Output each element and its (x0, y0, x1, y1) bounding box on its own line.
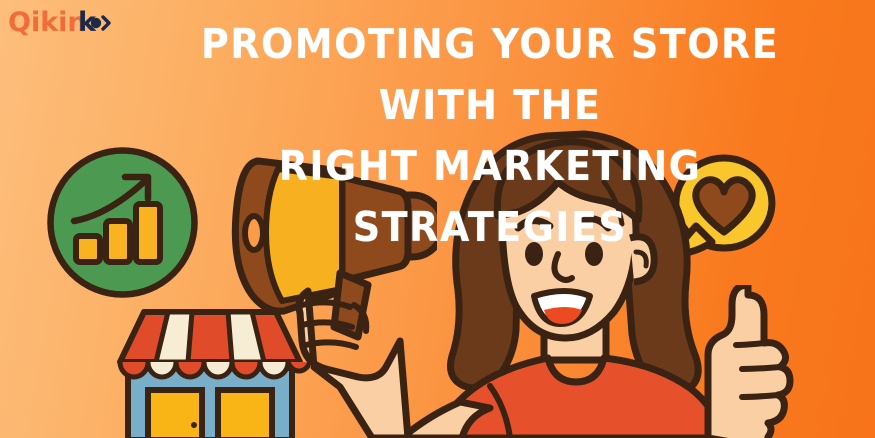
store-window-left (148, 390, 202, 438)
chevron-right-icon (91, 17, 109, 29)
eye-left (525, 242, 543, 266)
megaphone (222, 155, 437, 438)
logo-text-primary: Qikin (8, 7, 87, 38)
door-handle-icon (191, 422, 197, 428)
headline-line-1: PROMOTING YOUR STORE WITH THE (165, 14, 816, 136)
thumbs-up-hand (690, 285, 798, 438)
growth-chart-badge (45, 145, 200, 300)
eye-right (585, 242, 603, 266)
qikink-logo[interactable]: Qikin k (8, 6, 112, 40)
ear (630, 237, 654, 282)
thumb-and-fist (708, 285, 790, 438)
blog-banner: Qikin k PROMOTING YOUR STORE WITH THE RI… (0, 0, 875, 438)
megaphone-cone-inner (266, 169, 342, 301)
qikink-wordmark-icon: Qikin k (8, 6, 112, 40)
megaphone-knob (245, 216, 263, 250)
